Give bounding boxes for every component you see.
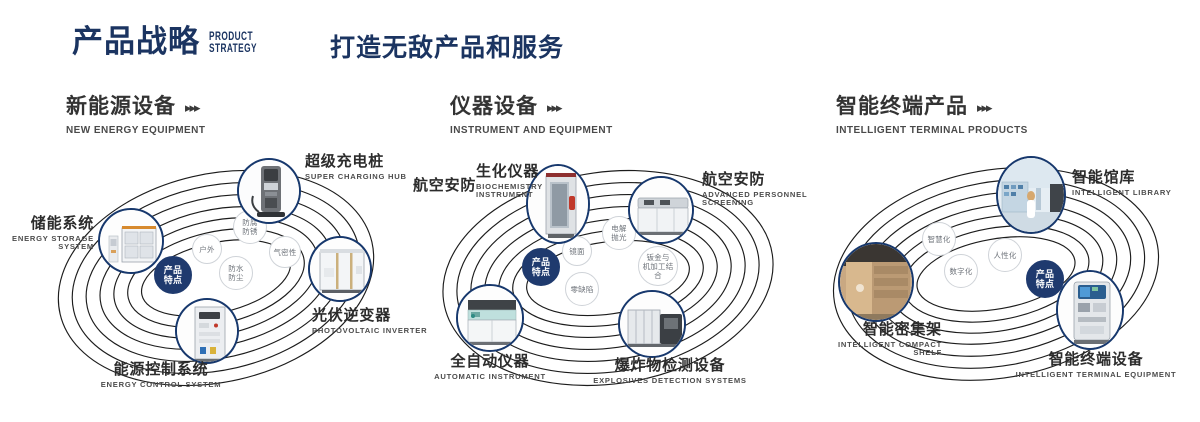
node-intelligent-library[interactable]: [996, 156, 1066, 234]
cluster-instrument-and-equipment: 产品 特点 镜面 电解 抛光 钣金与 机加工结合 零缺陷 生化仪器 BIOCHE…: [410, 150, 810, 410]
self-service-kiosk-icon: [1058, 272, 1122, 348]
caption-intelligent-compact-shelf: 智能密集架 INTELLIGENT COMPACT SHELF: [786, 322, 942, 356]
product-strategy-infographic: 产品战略 PRODUCT STRATEGY 打造无敌产品和服务 新能源设备 ▸▸…: [0, 0, 1200, 422]
section-title-cn-text: 仪器设备: [450, 96, 538, 117]
section-title-en: INTELLIGENT TERMINAL PRODUCTS: [836, 125, 1028, 136]
caption-cn: 全自动仪器: [410, 354, 570, 369]
library-hall-icon: [998, 158, 1064, 232]
brand-title-en: PRODUCT STRATEGY: [209, 31, 257, 57]
pv-inverter-cabinet-icon: [310, 238, 370, 300]
caption-explosives-detection-systems: 爆炸物检测设备 EXPLOSIVES DETECTION SYSTEMS: [570, 358, 770, 385]
caption-cn: 能源控制系统: [66, 362, 256, 377]
caption-cn: 智能密集架: [786, 322, 942, 337]
caption-en: INTELLIGENT LIBRARY: [1072, 189, 1200, 197]
caption-en: AUTOMATIC INSTRUMENT: [410, 373, 570, 381]
caption-intelligent-terminal-equipment: 智能终端设备 INTELLIGENT TERMINAL EQUIPMENT: [996, 352, 1196, 379]
section-heading-new-energy: 新能源设备 ▸▸▸ NEW ENERGY EQUIPMENT: [66, 96, 205, 136]
caption-en: ENERGY CONTROL SYSTEM: [66, 381, 256, 389]
section-heading-intelligent-terminal: 智能终端产品 ▸▸▸ INTELLIGENT TERMINAL PRODUCTS: [836, 96, 1028, 136]
caption-en: EXPLOSIVES DETECTION SYSTEMS: [570, 377, 770, 385]
automatic-analyzer-icon: [458, 286, 522, 350]
keyword-bubble: 气密性: [269, 236, 301, 268]
node-energy-control-system[interactable]: [175, 298, 239, 364]
node-advanced-personnel-screening[interactable]: [628, 176, 694, 244]
compact-shelf-icon: [840, 244, 912, 320]
node-energy-storage-system[interactable]: [98, 208, 164, 274]
caption-automatic-instrument: 全自动仪器 AUTOMATIC INSTRUMENT: [410, 354, 570, 381]
charging-pile-icon: [239, 160, 299, 222]
section-title-en: INSTRUMENT AND EQUIPMENT: [450, 125, 613, 136]
keyword-bubble: 人性化: [988, 238, 1022, 272]
section-title-cn: 仪器设备 ▸▸▸: [450, 96, 613, 117]
caption-energy-storage-system: 储能系统 ENERGY STORAGE SYSTEM: [0, 216, 94, 250]
cluster-new-energy-equipment: 产品 特点 户外 防腐 防锈 防水 防尘 气密性: [20, 150, 420, 410]
energy-storage-cabinet-icon: [100, 210, 162, 272]
caption-en: INTELLIGENT TERMINAL EQUIPMENT: [996, 371, 1196, 379]
caption-en: INTELLIGENT COMPACT SHELF: [786, 341, 942, 356]
caption-cn: 航空安防: [413, 178, 503, 193]
keyword-bubble: 钣金与 机加工结合: [638, 246, 678, 286]
section-heading-instrument: 仪器设备 ▸▸▸ INSTRUMENT AND EQUIPMENT: [450, 96, 613, 136]
caption-cn: 爆炸物检测设备: [570, 358, 770, 373]
section-title-cn: 新能源设备 ▸▸▸: [66, 96, 205, 117]
node-super-charging-hub[interactable]: [237, 158, 301, 224]
core-bubble: 产品 特点: [154, 256, 192, 294]
node-intelligent-terminal-equipment[interactable]: [1056, 270, 1124, 350]
core-bubble: 产品 特点: [522, 248, 560, 286]
chevrons-icon: ▸▸▸: [185, 101, 199, 114]
section-title-cn: 智能终端产品 ▸▸▸: [836, 96, 1028, 117]
caption-cn: 储能系统: [0, 216, 94, 231]
chevrons-icon: ▸▸▸: [977, 101, 991, 114]
node-automatic-instrument[interactable]: [456, 284, 524, 352]
keyword-bubble: 智慧化: [922, 222, 956, 256]
chevrons-icon: ▸▸▸: [547, 101, 561, 114]
section-title-cn-text: 智能终端产品: [836, 96, 968, 117]
control-cabinet-icon: [177, 300, 237, 362]
keyword-bubble: 数字化: [944, 254, 978, 288]
tagline: 打造无敌产品和服务: [330, 36, 564, 61]
node-intelligent-compact-shelf[interactable]: [838, 242, 914, 322]
screening-machine-icon: [630, 178, 692, 242]
caption-cn: 生化仪器: [476, 164, 572, 179]
brand-header: 产品战略 PRODUCT STRATEGY: [72, 26, 276, 57]
caption-cn: 智能终端设备: [996, 352, 1196, 367]
keyword-bubble: 防水 防尘: [219, 256, 253, 290]
keyword-bubble: 零缺陷: [565, 272, 599, 306]
brand-title-cn: 产品战略: [72, 26, 200, 57]
caption-cn: 智能馆库: [1072, 170, 1200, 185]
caption-en: ENERGY STORAGE SYSTEM: [0, 235, 94, 250]
keyword-bubble: 户外: [192, 234, 222, 264]
caption-energy-control-system: 能源控制系统 ENERGY CONTROL SYSTEM: [66, 362, 256, 389]
node-explosives-detection-systems[interactable]: [618, 290, 686, 358]
caption-intelligent-library: 智能馆库 INTELLIGENT LIBRARY: [1072, 170, 1200, 197]
caption-aviation-security-left: 航空安防: [413, 178, 503, 193]
section-title-en: NEW ENERGY EQUIPMENT: [66, 125, 205, 136]
section-title-cn-text: 新能源设备: [66, 96, 176, 117]
cluster-intelligent-terminal-products: 产品 特点 智慧化 数字化 人性化: [800, 150, 1200, 410]
explosive-detector-icon: [620, 292, 684, 356]
node-photovoltaic-inverter[interactable]: [308, 236, 372, 302]
